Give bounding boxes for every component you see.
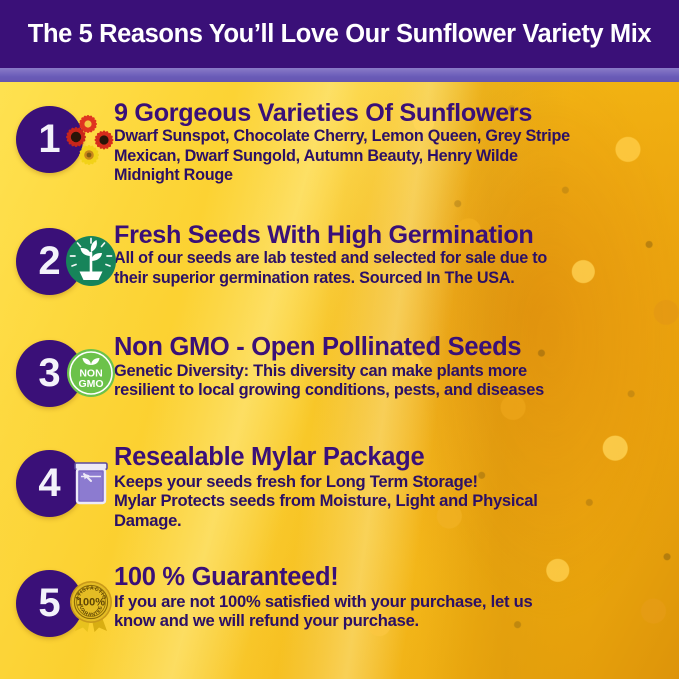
mylar-pouch-icon xyxy=(62,454,120,512)
reason-4-badge-group: 4 xyxy=(0,444,114,530)
header-bar: The 5 Reasons You’ll Love Our Sunflower … xyxy=(0,0,679,68)
sunflower-variety-mix-infographic: The 5 Reasons You’ll Love Our Sunflower … xyxy=(0,0,679,679)
reason-3-heading: Non GMO - Open Pollinated Seeds xyxy=(114,334,679,361)
reason-5-badge-group: 5 SATISFACTION xyxy=(0,564,114,650)
reason-5-heading: 100 % Guaranteed! xyxy=(114,564,679,591)
reason-1-body-line-2: Mexican, Dwarf Sungold, Autumn Beauty, H… xyxy=(114,147,679,166)
reason-3-body-line-1: Genetic Diversity: This diversity can ma… xyxy=(114,362,679,382)
reason-number-3: 3 xyxy=(38,353,60,393)
reason-5-text: 100 % Guaranteed! If you are not 100% sa… xyxy=(114,564,679,631)
reason-4-heading: Resealable Mylar Package xyxy=(114,444,679,471)
reason-2-body-line-2: their superior germination rates. Source… xyxy=(114,269,679,288)
reason-2-heading: Fresh Seeds With High Germination xyxy=(114,222,679,248)
reason-1-body: Dwarf Sunspot, Chocolate Cherry, Lemon Q… xyxy=(114,127,679,185)
reason-1-body-line-3: Midnight Rouge xyxy=(114,166,679,185)
reason-2-badge-group: 2 xyxy=(0,222,114,308)
reason-item-5: 5 SATISFACTION xyxy=(0,564,679,650)
reason-2-body-line-1: All of our seeds are lab tested and sele… xyxy=(114,249,679,268)
reason-2-body: All of our seeds are lab tested and sele… xyxy=(114,249,679,288)
reason-number-2: 2 xyxy=(38,241,60,281)
reason-item-1: 1 xyxy=(0,100,679,186)
reason-5-body: If you are not 100% satisfied with your … xyxy=(114,592,679,632)
reason-3-text: Non GMO - Open Pollinated Seeds Genetic … xyxy=(114,334,679,401)
reason-2-text: Fresh Seeds With High Germination All of… xyxy=(114,222,679,288)
reason-number-4: 4 xyxy=(38,463,60,503)
reason-5-body-line-2: know and we will refund your purchase. xyxy=(114,611,679,631)
header-accent-stripe xyxy=(0,68,679,82)
non-gmo-badge-icon: NON GMO xyxy=(62,344,120,402)
reason-4-text: Resealable Mylar Package Keeps your seed… xyxy=(114,444,679,531)
non-gmo-label-line-2: GMO xyxy=(78,378,103,390)
seal-label-center: 100% xyxy=(77,597,105,609)
reason-item-2: 2 xyxy=(0,222,679,308)
reason-4-body: Keeps your seeds fresh for Long Term Sto… xyxy=(114,472,679,532)
reason-1-body-line-1: Dwarf Sunspot, Chocolate Cherry, Lemon Q… xyxy=(114,127,679,146)
reason-3-body: Genetic Diversity: This diversity can ma… xyxy=(114,362,679,401)
reasons-list: 1 xyxy=(0,82,679,679)
reason-4-body-line-2: Mylar Protects seeds from Moisture, Ligh… xyxy=(114,491,679,511)
sprouting-seedling-icon xyxy=(62,232,120,290)
reason-1-badge-group: 1 xyxy=(0,100,114,186)
reason-3-badge-group: 3 NON GMO xyxy=(0,334,114,420)
reason-item-4: 4 Resealable Mylar Package Keeps xyxy=(0,444,679,531)
reason-item-3: 3 NON GMO Non GMO - Open Pollinated Seed… xyxy=(0,334,679,420)
reason-5-body-line-1: If you are not 100% satisfied with your … xyxy=(114,592,679,612)
reason-4-body-line-1: Keeps your seeds fresh for Long Term Sto… xyxy=(114,472,679,492)
reason-1-text: 9 Gorgeous Varieties Of Sunflowers Dwarf… xyxy=(114,100,679,186)
reason-1-heading: 9 Gorgeous Varieties Of Sunflowers xyxy=(114,100,679,126)
sunflower-cluster-icon xyxy=(62,110,120,168)
page-title: The 5 Reasons You’ll Love Our Sunflower … xyxy=(28,20,651,49)
reason-number-1: 1 xyxy=(38,119,60,159)
satisfaction-guarantee-seal-icon: SATISFACTION GUARANTEED 100% xyxy=(62,574,120,632)
reason-3-body-line-2: resilient to local growing conditions, p… xyxy=(114,381,679,401)
reason-4-body-line-3: Damage. xyxy=(114,511,679,531)
reason-number-5: 5 xyxy=(38,583,60,623)
